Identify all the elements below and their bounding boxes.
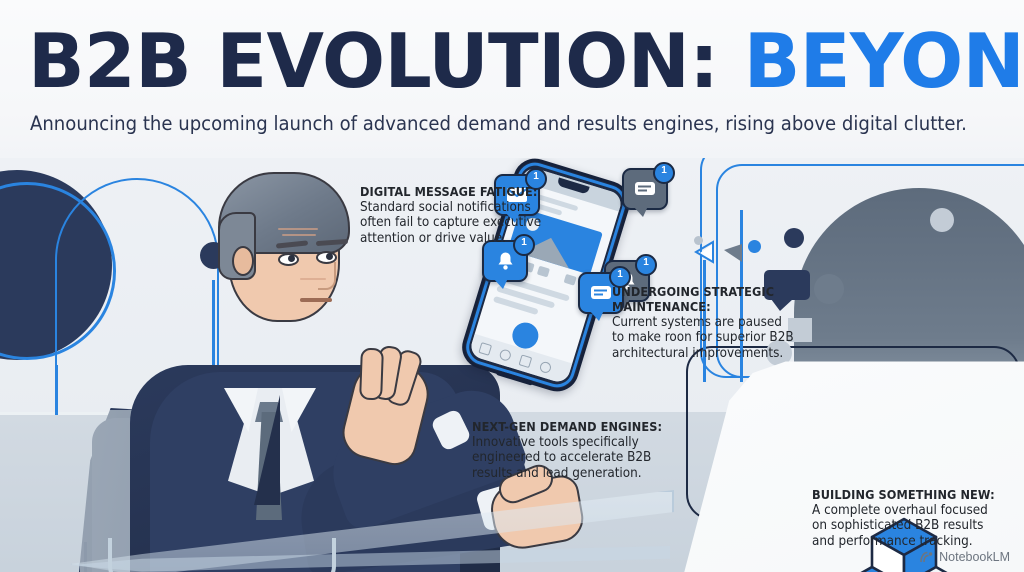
navy-dot-right <box>784 228 804 248</box>
suit-lapel <box>218 395 280 505</box>
bubble-tail <box>589 310 604 321</box>
tabbar-icon-1 <box>478 342 492 356</box>
triangle-left-outline-icon <box>694 240 716 264</box>
pupil-left <box>288 255 295 262</box>
page-title: B2B EVOLUTION: BEYOND THE NOISE <box>28 22 1024 100</box>
callout-line-3: results and lead generation. <box>472 466 682 481</box>
page-subtitle: Announcing the upcoming launch of advanc… <box>30 112 1024 135</box>
blue-arc-decor <box>55 178 219 370</box>
chat-bubble-icon <box>590 285 612 302</box>
blue-vertical-line-left <box>55 365 58 415</box>
notification-bell-blue: 1 <box>482 240 528 282</box>
bell-icon <box>496 251 515 271</box>
notebooklm-watermark: NotebookLM <box>919 550 1010 564</box>
tabbar-icon-2 <box>498 348 512 362</box>
share-icon <box>564 274 577 286</box>
callout-building-something-new: BUILDING SOMETHING NEW: A complete overh… <box>812 487 1022 549</box>
notification-badge: 1 <box>635 254 657 276</box>
callout-next-gen-demand-engines: NEXT-GEN DEMAND ENGINES: Innovative tool… <box>472 419 682 481</box>
forehead-line-2 <box>282 234 316 236</box>
small-blue-dot <box>748 240 761 253</box>
callout-heading: NEXT-GEN DEMAND ENGINES: <box>472 419 682 434</box>
callout-undergoing-strategic-maintenance: UNDERGOING STRATEGIC MAINTENANCE: Curren… <box>612 284 842 361</box>
callout-heading: BUILDING SOMETHING NEW: <box>812 487 1022 502</box>
callout-line-2: often fail to capture executive <box>360 215 560 230</box>
callout-line-1: Innovative tools specifically <box>472 435 682 450</box>
notification-badge: 1 <box>653 162 675 184</box>
callout-line-1: Current systems are paused <box>612 315 842 330</box>
triangle-gray-icon <box>722 242 744 264</box>
bubble-tail <box>633 206 648 217</box>
watermark-label: NotebookLM <box>939 550 1010 564</box>
forehead-line-1 <box>278 228 318 230</box>
notification-chat-top: 1 <box>622 168 668 210</box>
gray-dot-far-right <box>930 208 954 232</box>
cheek-line <box>300 278 326 280</box>
tabbar-icon-3 <box>519 354 533 368</box>
finger-3 <box>359 348 384 401</box>
infographic-canvas: 1 1 1 1 <box>0 0 1024 572</box>
callout-line-3: architectural improvements. <box>612 346 842 361</box>
callout-digital-message-fatigue: DIGITAL MESSAGE FATIGUE: Standard social… <box>360 184 560 246</box>
title-blue-part: BEYOND THE NOISE <box>744 17 1024 105</box>
table-leg-frame <box>108 538 336 572</box>
callout-line-2: engineered to accelerate B2B <box>472 450 682 465</box>
chat-bubble-icon <box>634 181 656 198</box>
callout-line-2: on sophisticated B2B results <box>812 518 1022 533</box>
callout-line-1: A complete overhaul focused <box>812 503 1022 518</box>
header-band: B2B EVOLUTION: BEYOND THE NOISE Announci… <box>0 0 1024 158</box>
mouth <box>300 298 332 302</box>
pupil-right <box>326 253 333 260</box>
tabbar-icon-4 <box>539 361 553 375</box>
businessman-ear <box>232 246 254 276</box>
bubble-tail <box>493 278 508 289</box>
callout-heading: DIGITAL MESSAGE FATIGUE: <box>360 184 560 199</box>
callout-heading: UNDERGOING STRATEGIC MAINTENANCE: <box>612 284 842 314</box>
action-icon-3 <box>537 266 550 278</box>
nose <box>318 262 336 290</box>
callout-line-3: and performance tracking. <box>812 534 1022 549</box>
callout-line-3: attention or drive value. <box>360 231 560 246</box>
callout-line-2: to make roon for superior B2B <box>612 330 842 345</box>
callout-line-1: Standard social notifications <box>360 200 560 215</box>
notebooklm-icon <box>919 551 934 564</box>
title-dark-part: B2B EVOLUTION: <box>28 17 718 105</box>
